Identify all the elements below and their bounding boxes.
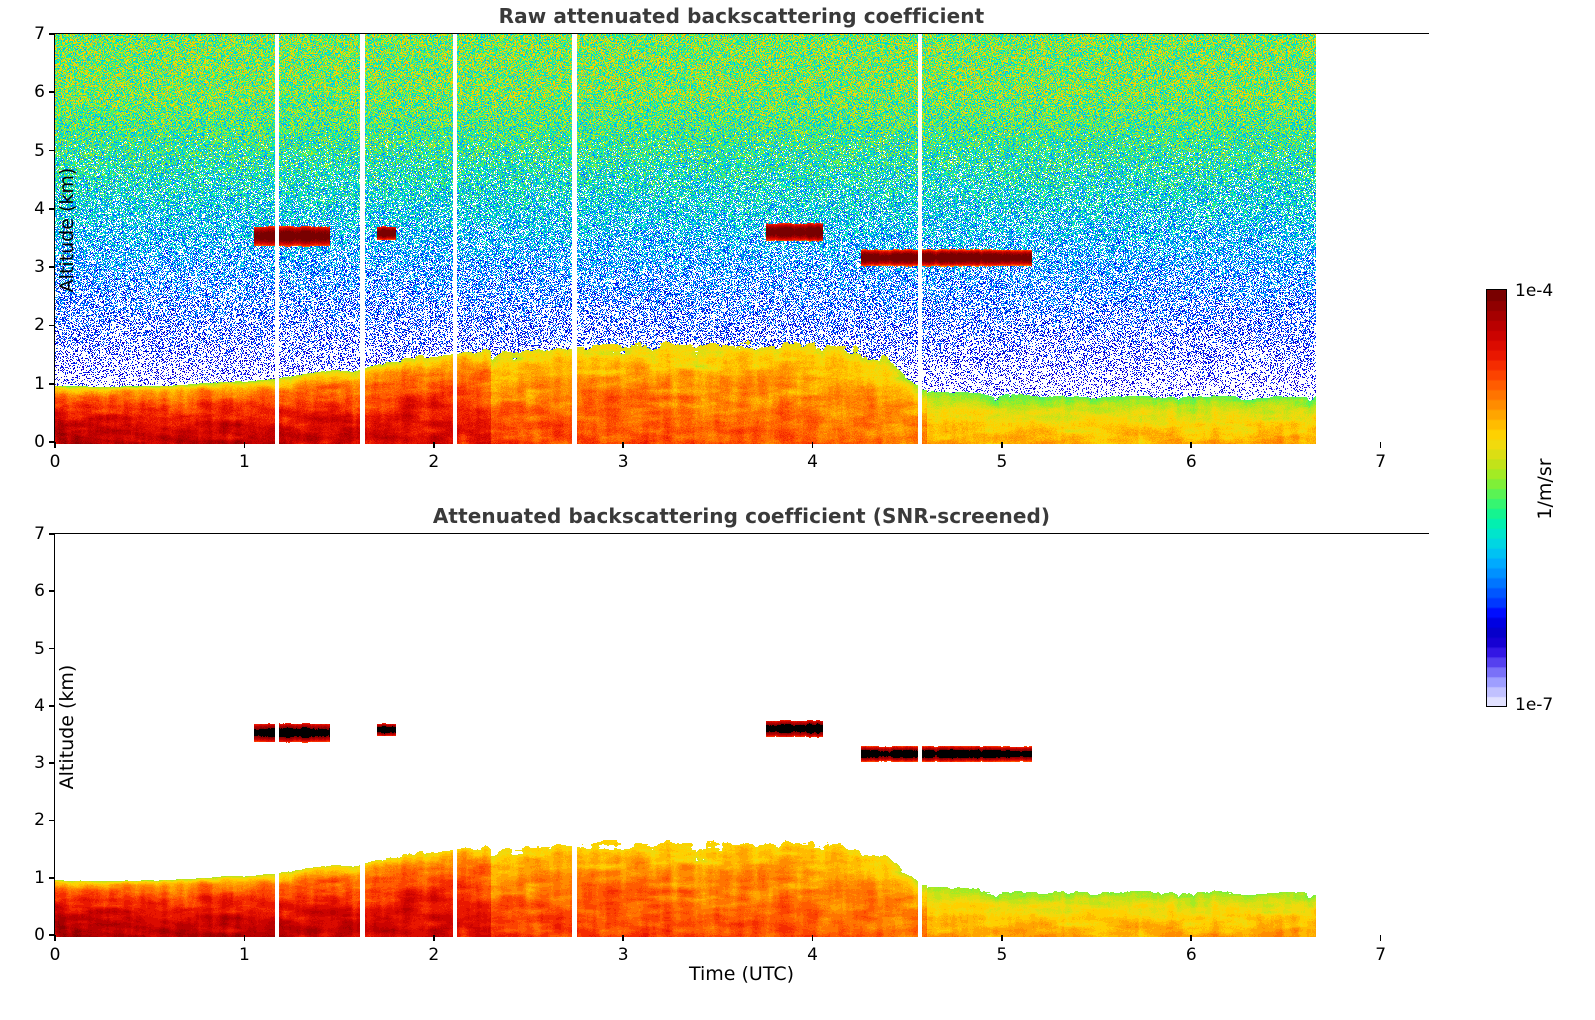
colorbar: 1e-4 1e-7 — [1486, 289, 1507, 707]
y-ticklabel-0-4: 4 — [34, 199, 45, 219]
x-ticklabel-0-5: 5 — [996, 452, 1007, 472]
x-ticklabel-0-7: 7 — [1375, 452, 1386, 472]
y-ticklabel-1-7: 7 — [34, 524, 45, 544]
x-tick-0-4 — [812, 442, 814, 448]
x-ticklabel-1-3: 3 — [618, 945, 629, 965]
y-tick-1-4 — [49, 705, 55, 707]
x-tick-1-2 — [433, 935, 435, 941]
y-tick-0-4 — [49, 208, 55, 210]
x-tick-0-3 — [622, 442, 624, 448]
y-ticklabel-0-0: 0 — [34, 432, 45, 452]
y-tick-0-7 — [49, 33, 55, 35]
x-tick-1-7 — [1380, 935, 1382, 941]
x-tick-0-1 — [244, 442, 246, 448]
colorbar-min-label: 1e-7 — [1515, 695, 1553, 715]
x-ticklabel-1-4: 4 — [807, 945, 818, 965]
x-ticklabel-0-4: 4 — [807, 452, 818, 472]
y-tick-1-3 — [49, 762, 55, 764]
heatmap-raw-backscatter — [55, 34, 1430, 444]
y-tick-0-3 — [49, 266, 55, 268]
figure-root: Raw attenuated backscattering coefficien… — [0, 0, 1595, 1020]
colorbar-gradient — [1486, 289, 1507, 707]
x-tick-0-6 — [1190, 442, 1192, 448]
x-tick-0-7 — [1380, 442, 1382, 448]
y-axis-label-raw: Altitude (km) — [56, 30, 78, 430]
x-ticklabel-1-1: 1 — [239, 945, 250, 965]
x-ticklabel-1-7: 7 — [1375, 945, 1386, 965]
axes-screened-backscatter: Altitude (km) 0123456701234567 — [54, 533, 1429, 936]
y-tick-1-6 — [49, 590, 55, 592]
x-ticklabel-0-1: 1 — [239, 452, 250, 472]
x-tick-1-1 — [244, 935, 246, 941]
y-ticklabel-1-2: 2 — [34, 810, 45, 830]
y-ticklabel-0-7: 7 — [34, 24, 45, 44]
y-ticklabel-0-3: 3 — [34, 257, 45, 277]
x-tick-0-2 — [433, 442, 435, 448]
y-tick-0-1 — [49, 383, 55, 385]
x-tick-1-5 — [1001, 935, 1003, 941]
panel-title-screened: Attenuated backscattering coefficient (S… — [54, 504, 1429, 528]
axes-raw-backscatter: Altitude (km) 0123456701234567 — [54, 33, 1429, 443]
y-tick-0-6 — [49, 91, 55, 93]
x-ticklabel-0-0: 0 — [50, 452, 61, 472]
y-ticklabel-1-0: 0 — [34, 925, 45, 945]
y-ticklabel-1-1: 1 — [34, 868, 45, 888]
x-tick-1-0 — [54, 935, 56, 941]
y-ticklabel-0-1: 1 — [34, 374, 45, 394]
y-ticklabel-1-6: 6 — [34, 581, 45, 601]
x-ticklabel-0-3: 3 — [618, 452, 629, 472]
x-ticklabel-1-5: 5 — [996, 945, 1007, 965]
panel-title-raw: Raw attenuated backscattering coefficien… — [54, 4, 1429, 28]
colorbar-unit-label: 1/m/sr — [1534, 399, 1556, 579]
x-tick-1-4 — [812, 935, 814, 941]
heatmap-screened-backscatter — [55, 534, 1430, 937]
x-ticklabel-1-2: 2 — [428, 945, 439, 965]
x-ticklabel-0-2: 2 — [428, 452, 439, 472]
x-tick-1-3 — [622, 935, 624, 941]
y-ticklabel-1-3: 3 — [34, 753, 45, 773]
y-tick-1-2 — [49, 820, 55, 822]
x-ticklabel-1-6: 6 — [1186, 945, 1197, 965]
x-tick-1-6 — [1190, 935, 1192, 941]
y-ticklabel-0-2: 2 — [34, 315, 45, 335]
colorbar-canvas — [1487, 290, 1506, 706]
y-tick-0-2 — [49, 325, 55, 327]
y-ticklabel-1-5: 5 — [34, 639, 45, 659]
y-tick-1-5 — [49, 648, 55, 650]
y-tick-0-5 — [49, 150, 55, 152]
y-axis-label-screened: Altitude (km) — [56, 527, 78, 927]
colorbar-max-label: 1e-4 — [1515, 281, 1553, 301]
x-tick-0-5 — [1001, 442, 1003, 448]
x-ticklabel-0-6: 6 — [1186, 452, 1197, 472]
y-tick-1-7 — [49, 533, 55, 535]
y-ticklabel-0-5: 5 — [34, 141, 45, 161]
x-axis-label: Time (UTC) — [54, 963, 1429, 985]
x-tick-0-0 — [54, 442, 56, 448]
y-ticklabel-0-6: 6 — [34, 82, 45, 102]
x-ticklabel-1-0: 0 — [50, 945, 61, 965]
y-ticklabel-1-4: 4 — [34, 696, 45, 716]
y-tick-1-1 — [49, 877, 55, 879]
